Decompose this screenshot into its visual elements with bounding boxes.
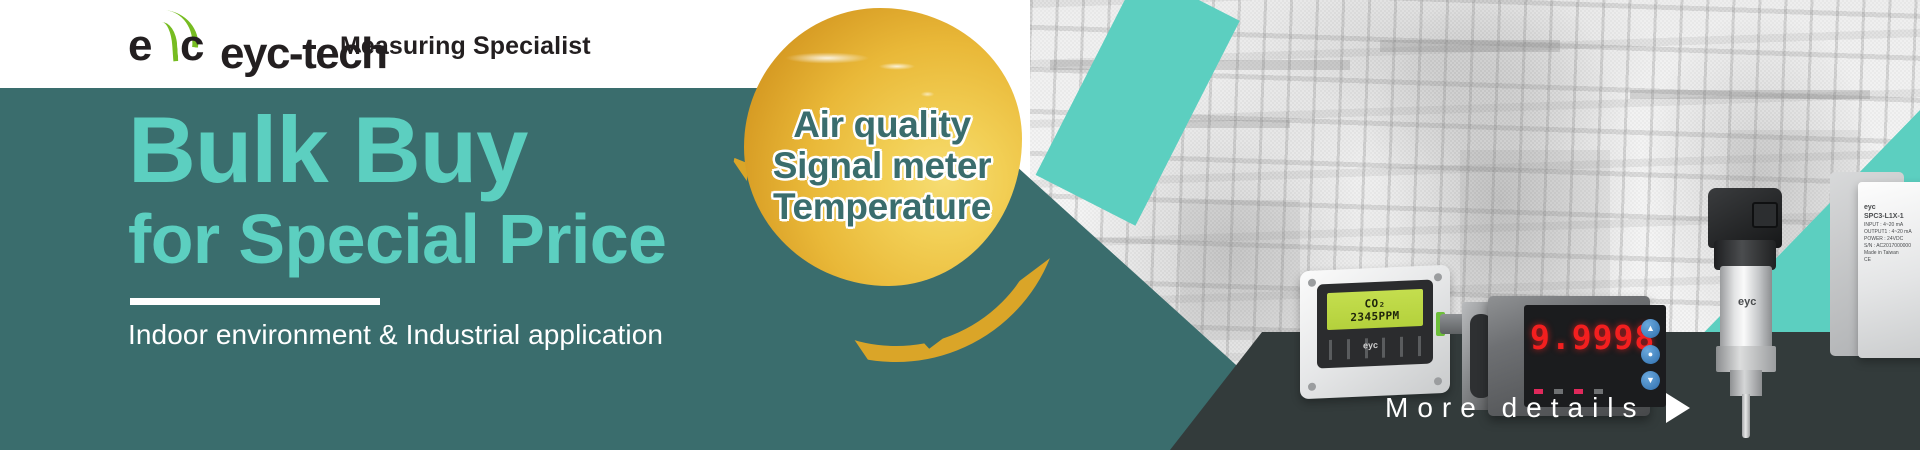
probe-hex-nut bbox=[1716, 346, 1776, 372]
badge-line-3: Temperature bbox=[722, 186, 1042, 227]
probe-stem bbox=[1742, 394, 1750, 438]
badge-line-2: Signal meter bbox=[722, 145, 1042, 186]
vent-slot bbox=[1400, 337, 1403, 357]
screw-icon bbox=[1308, 383, 1316, 391]
din-cert-mark: CE bbox=[1864, 257, 1920, 264]
screw-icon bbox=[1434, 377, 1442, 385]
play-arrow-icon[interactable] bbox=[1666, 393, 1690, 423]
din-brand-mark: eyc bbox=[1864, 204, 1920, 211]
badge-text: Air quality Signal meter Temperature bbox=[722, 104, 1042, 227]
co2-display-label: CO₂ bbox=[1364, 296, 1385, 310]
probe-thread bbox=[1730, 370, 1762, 396]
vent-slot bbox=[1382, 338, 1385, 358]
probe-brand-mark: eyc bbox=[1738, 296, 1756, 308]
gold-brush-badge: Air quality Signal meter Temperature bbox=[722, 0, 1042, 340]
vent-slot bbox=[1418, 336, 1421, 356]
headline-divider bbox=[130, 298, 380, 305]
eyc-logo-mark: e c bbox=[128, 20, 214, 68]
promo-banner: e c eyc-tech Measuring Specialist Bulk B… bbox=[0, 0, 1920, 450]
co2-housing: CO₂ 2345PPM eyc bbox=[1300, 265, 1450, 400]
probe-body: eyc bbox=[1720, 266, 1772, 350]
set-button-icon[interactable]: ● bbox=[1641, 345, 1660, 364]
din-serial: S/N : AC2017000000 bbox=[1864, 243, 1920, 250]
co2-brand-mark: eyc bbox=[1363, 340, 1378, 351]
din-spec-output: OUTPUT1 : 4~20 mA bbox=[1864, 229, 1920, 236]
vent-slot bbox=[1329, 340, 1332, 360]
din-origin: Made in Taiwan bbox=[1864, 250, 1920, 257]
probe-connector-head bbox=[1708, 188, 1782, 248]
meter-led-value: 9.9998 bbox=[1530, 321, 1634, 355]
product-co2-transmitter: CO₂ 2345PPM eyc bbox=[1300, 268, 1465, 408]
logo-letter-e: e bbox=[128, 24, 151, 68]
photo-structure-bar bbox=[1630, 90, 1870, 99]
logo-letter-c: c bbox=[180, 24, 203, 68]
din-model: SPC3-L1X-1 bbox=[1864, 213, 1920, 220]
photo-machine-block bbox=[1180, 200, 1300, 340]
screw-icon bbox=[1308, 279, 1316, 287]
badge-line-1: Air quality bbox=[722, 104, 1042, 145]
arrow-down-icon[interactable]: ▼ bbox=[1641, 371, 1660, 390]
more-details-cta[interactable]: More details bbox=[1385, 392, 1690, 424]
co2-front-face: CO₂ 2345PPM eyc bbox=[1317, 279, 1433, 368]
arrow-up-icon[interactable]: ▲ bbox=[1641, 319, 1660, 338]
brand-tagline: Measuring Specialist bbox=[340, 32, 591, 61]
din-spec-power: POWER : 24VDC bbox=[1864, 236, 1920, 243]
vent-slot bbox=[1347, 339, 1350, 359]
co2-lcd-display: CO₂ 2345PPM bbox=[1327, 289, 1423, 330]
din-spec-label: eyc SPC3-L1X-1 INPUT : 4~20 mA OUTPUT1 :… bbox=[1864, 204, 1920, 264]
din-spec-input: INPUT : 4~20 mA bbox=[1864, 222, 1920, 229]
din-module-housing: eyc SPC3-L1X-1 INPUT : 4~20 mA OUTPUT1 :… bbox=[1858, 182, 1920, 358]
product-din-module: eyc SPC3-L1X-1 INPUT : 4~20 mA OUTPUT1 :… bbox=[1830, 172, 1920, 372]
cta-label[interactable]: More details bbox=[1385, 392, 1646, 424]
co2-display-value: 2345PPM bbox=[1350, 308, 1399, 323]
product-pressure-transmitter: eyc bbox=[1690, 188, 1820, 438]
meter-button-group[interactable]: ▲ ● ▼ bbox=[1641, 319, 1660, 397]
screw-icon bbox=[1434, 273, 1442, 281]
